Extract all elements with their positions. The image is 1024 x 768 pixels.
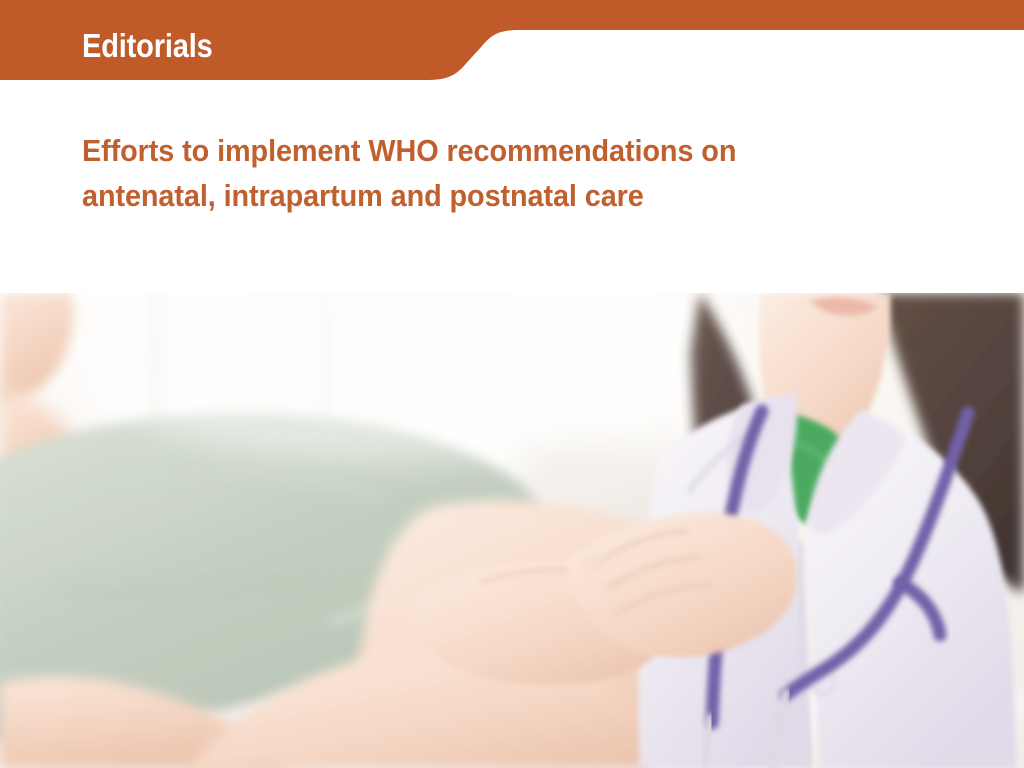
header-banner: Editorials xyxy=(0,0,1024,90)
hero-photo xyxy=(0,293,1024,768)
page-title: Efforts to implement WHO recommendations… xyxy=(82,128,863,218)
section-label: Editorials xyxy=(82,26,213,66)
title-block: Efforts to implement WHO recommendations… xyxy=(82,128,922,218)
hero-photo-illustration xyxy=(0,293,1024,768)
